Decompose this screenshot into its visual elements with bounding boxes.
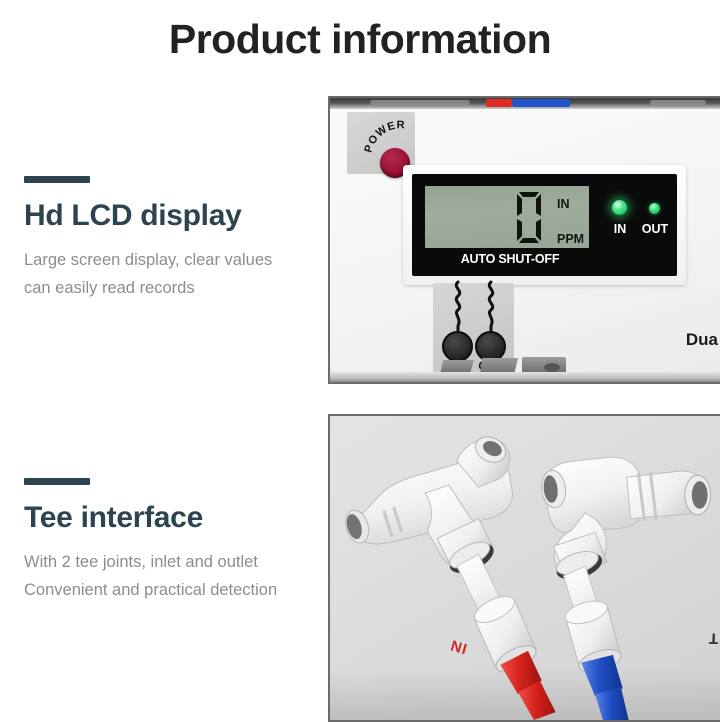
tee-probe-out-label: OUT	[708, 629, 720, 647]
feature-block-tee-interface: Tee interface With 2 tee joints, inlet a…	[24, 478, 316, 605]
red-cable-segment	[486, 99, 512, 107]
probe-cable-in-icon	[450, 282, 466, 334]
feature-description-line: Convenient and practical detection	[24, 576, 316, 605]
lcd-unit-in: IN	[557, 198, 601, 211]
blue-cable-segment	[512, 99, 570, 107]
accent-bar	[24, 478, 90, 485]
feature-description-line: Large screen display, clear values	[24, 246, 316, 275]
side-text-dual: Dua	[686, 330, 718, 350]
accent-bar	[24, 176, 90, 183]
tee-fittings-illustration	[330, 416, 720, 720]
lcd-digit-0	[513, 190, 545, 245]
feature-description: With 2 tee joints, inlet and outlet Conv…	[24, 548, 316, 606]
feature-description-line: With 2 tee joints, inlet and outlet	[24, 548, 316, 577]
photo-bottom-edge	[330, 372, 720, 382]
feature-description-line: can easily read records	[24, 274, 316, 303]
auto-shutoff-label: AUTO SHUT-OFF	[430, 252, 590, 266]
product-photo-tee-interface: IN OUT	[328, 414, 720, 722]
product-photo-tds-meter: POWER	[328, 96, 720, 384]
feature-block-lcd-display: Hd LCD display Large screen display, cle…	[24, 176, 316, 303]
led-out-label: OUT	[639, 222, 671, 236]
lcd-unit-labels: IN PPM	[557, 198, 601, 245]
led-in-indicator	[612, 200, 627, 215]
page-title: Product information	[0, 16, 720, 63]
lcd-frame: IN PPM AUTO SHUT-OFF IN OUT	[403, 165, 686, 285]
probe-cable-out-icon	[483, 282, 499, 334]
feature-description: Large screen display, clear values can e…	[24, 246, 316, 304]
led-indicator-group: IN OUT	[608, 196, 674, 244]
probe-jack-in[interactable]	[442, 331, 473, 362]
feature-heading: Hd LCD display	[24, 200, 316, 232]
led-in-label: IN	[608, 222, 632, 236]
top-highlight	[650, 100, 706, 105]
feature-heading: Tee interface	[24, 502, 316, 534]
led-out-indicator	[649, 203, 660, 214]
lcd-unit-ppm: PPM	[557, 233, 601, 246]
probe-jack-out[interactable]	[475, 331, 506, 362]
lcd-bezel: IN PPM AUTO SHUT-OFF IN OUT	[412, 174, 677, 276]
top-highlight	[370, 100, 470, 105]
lcd-screen: IN PPM	[425, 186, 589, 248]
